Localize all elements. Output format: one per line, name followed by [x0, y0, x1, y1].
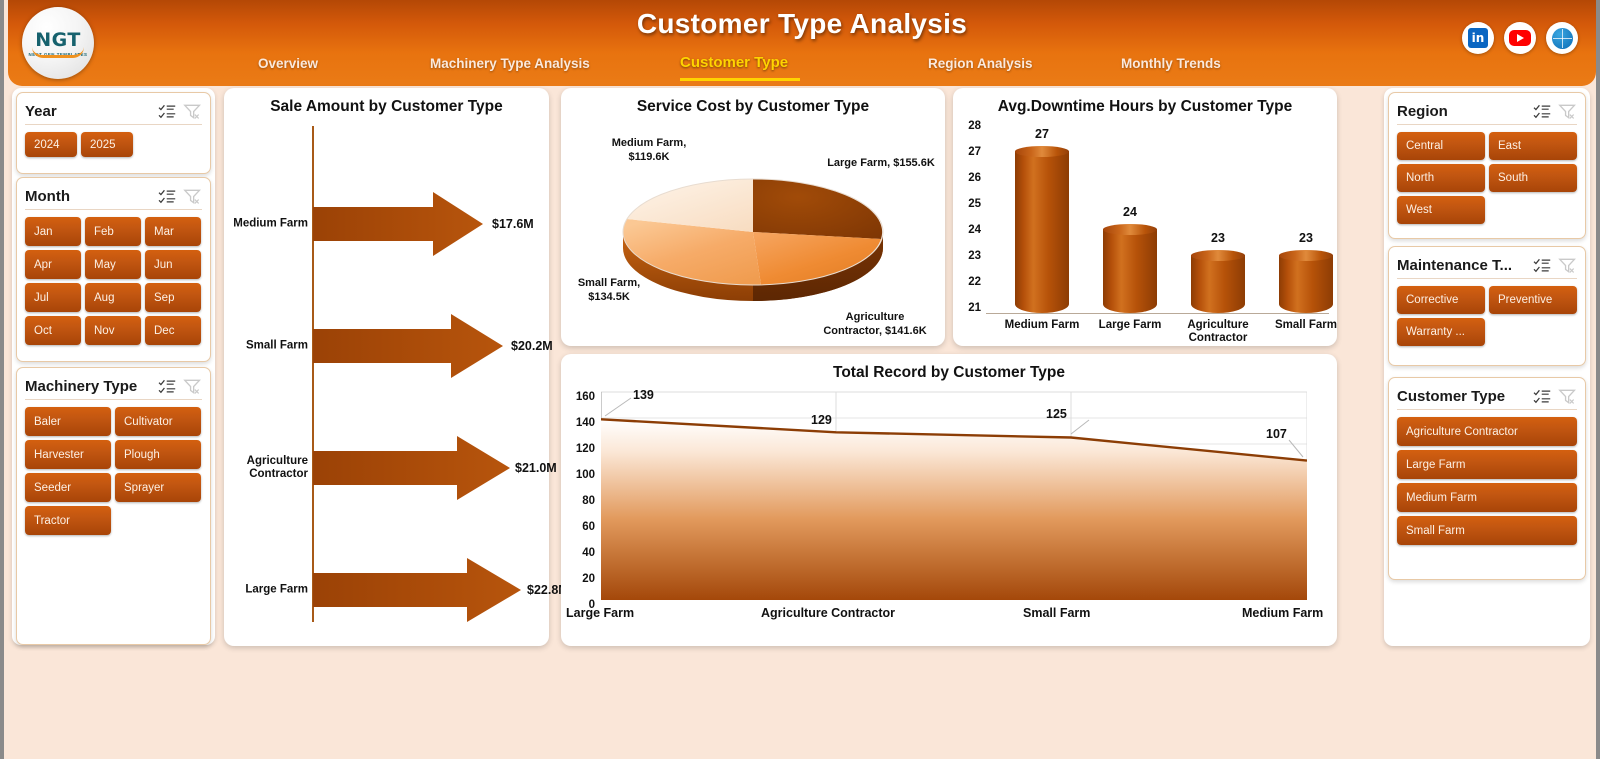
slicer-item-oct[interactable]: Oct — [25, 316, 81, 345]
slicer-maintenance-items: Corrective Preventive Warranty ... — [1397, 286, 1577, 346]
funnel-plot: Medium Farm $17.6M Small Farm $20 — [224, 124, 549, 644]
slicer-customer-title: Customer Type — [1397, 388, 1527, 405]
y-axis-tick: 25 — [957, 198, 981, 210]
multi-select-icon[interactable] — [158, 103, 177, 120]
y-axis-tick: 20 — [567, 573, 595, 585]
pie-label-medium-farm: Medium Farm, $119.6K — [603, 136, 695, 164]
nav-item-monthly-trends[interactable]: Monthly Trends — [1121, 56, 1221, 71]
column-top-ellipse — [1279, 250, 1333, 261]
slicer-month-title: Month — [25, 188, 152, 205]
pie-label-agriculture-contractor: Agriculture Contractor, $141.6K — [815, 310, 935, 338]
area-series-shape — [601, 386, 1307, 618]
data-label: 129 — [811, 413, 832, 427]
slicer-machinery-type: Machinery Type Baler Cultivator Harveste… — [16, 367, 211, 645]
website-button[interactable] — [1546, 22, 1578, 54]
slicer-item-corrective[interactable]: Corrective — [1397, 286, 1485, 314]
y-axis-tick: 140 — [567, 417, 595, 429]
clear-filter-icon[interactable] — [183, 103, 202, 120]
slicer-month: Month Jan Feb Mar Apr May Jun Jul Aug Se… — [16, 177, 211, 362]
nav-item-customer-type[interactable]: Customer Type — [680, 54, 788, 71]
y-axis-tick: 40 — [567, 547, 595, 559]
slicer-item-sep[interactable]: Sep — [145, 283, 201, 312]
funnel-category-label: Small Farm — [228, 340, 308, 353]
y-axis-tick: 24 — [957, 224, 981, 236]
active-tab-underline — [680, 78, 800, 81]
slicer-item-2025[interactable]: 2025 — [81, 132, 133, 157]
funnel-row[interactable]: Large Farm $22.8M — [224, 558, 549, 622]
slicer-item-baler[interactable]: Baler — [25, 407, 111, 436]
chart-avg-downtime-hours-by-customer-type[interactable]: Avg.Downtime Hours by Customer Type 28 2… — [953, 88, 1337, 346]
slicer-year-header: Year — [25, 99, 202, 125]
chart-title: Avg.Downtime Hours by Customer Type — [953, 98, 1337, 116]
funnel-row[interactable]: Small Farm $20.2M — [224, 314, 549, 378]
x-axis-line — [986, 313, 1329, 314]
slicer-maintenance-type: Maintenance T... Corrective Preventive W… — [1388, 246, 1586, 366]
slicer-region-title: Region — [1397, 103, 1527, 120]
youtube-button[interactable] — [1504, 22, 1536, 54]
pie-plot: Medium Farm, $119.6K Large Farm, $155.6K… — [561, 118, 945, 346]
slicer-item-small-farm[interactable]: Small Farm — [1397, 516, 1577, 545]
slicer-item-warranty[interactable]: Warranty ... — [1397, 318, 1485, 346]
dashboard-root: NGT NEXT GEN TEMPLATES Customer Type Ana… — [0, 0, 1600, 759]
slicer-item-harvester[interactable]: Harvester — [25, 440, 111, 469]
funnel-category-label: Medium Farm — [228, 218, 308, 231]
chart-service-cost-by-customer-type[interactable]: Service Cost by Customer Type — [561, 88, 945, 346]
chart-sale-amount-by-customer-type[interactable]: Sale Amount by Customer Type Medium Farm… — [224, 88, 549, 646]
funnel-category-label: Agriculture Contractor — [228, 455, 308, 481]
multi-select-icon[interactable] — [158, 378, 177, 395]
slicer-machinery-header: Machinery Type — [25, 374, 202, 400]
area-plot: 160 140 120 100 80 60 40 20 0 — [561, 386, 1337, 644]
column-value-label: 23 — [1191, 231, 1245, 245]
pie-label-small-farm: Small Farm, $134.5K — [561, 276, 657, 304]
chart-title: Sale Amount by Customer Type — [224, 98, 549, 116]
column-top-ellipse — [1191, 250, 1245, 261]
chart-title: Total Record by Customer Type — [561, 364, 1337, 382]
funnel-arrow-shape — [313, 558, 521, 622]
slicer-customer-type: Customer Type Agriculture Contractor Lar… — [1388, 377, 1586, 580]
slicer-region-header: Region — [1397, 99, 1577, 125]
x-axis-category-label: Large Farm — [566, 606, 634, 620]
multi-select-icon[interactable] — [158, 188, 177, 205]
multi-select-icon[interactable] — [1533, 103, 1552, 120]
slicer-item-preventive[interactable]: Preventive — [1489, 286, 1577, 314]
slicer-maintenance-header: Maintenance T... — [1397, 253, 1577, 279]
slicer-item-jul[interactable]: Jul — [25, 283, 81, 312]
slicer-item-feb[interactable]: Feb — [85, 217, 141, 246]
y-axis-tick: 27 — [957, 146, 981, 158]
slicer-region: Region Central East North South West — [1388, 92, 1586, 239]
data-label: 139 — [633, 388, 654, 402]
slicer-item-west[interactable]: West — [1397, 196, 1485, 224]
slicer-month-header: Month — [25, 184, 202, 210]
slicer-item-plough[interactable]: Plough — [115, 440, 201, 469]
y-axis-tick: 100 — [567, 469, 595, 481]
y-axis-tick: 23 — [957, 250, 981, 262]
pie-label-large-farm: Large Farm, $155.6K — [826, 156, 936, 170]
column-body — [1191, 255, 1245, 313]
y-axis-tick: 28 — [957, 120, 981, 132]
column-top-ellipse — [1015, 146, 1069, 157]
funnel-value-label: $21.0M — [515, 461, 557, 475]
x-axis-category-label: Medium Farm — [1001, 319, 1083, 332]
nav-item-region-analysis[interactable]: Region Analysis — [928, 56, 1033, 71]
y-axis-tick: 22 — [957, 276, 981, 288]
clear-filter-icon[interactable] — [183, 188, 202, 205]
column-value-label: 27 — [1015, 127, 1069, 141]
slicer-year-items: 2024 2025 — [25, 132, 202, 157]
linkedin-button[interactable]: in — [1462, 22, 1494, 54]
page-header: NGT NEXT GEN TEMPLATES Customer Type Ana… — [8, 0, 1596, 86]
funnel-row[interactable]: Agriculture Contractor $21.0M — [224, 436, 549, 500]
y-axis-tick: 120 — [567, 443, 595, 455]
slicer-item-cultivator[interactable]: Cultivator — [115, 407, 201, 436]
multi-select-icon[interactable] — [1533, 388, 1552, 405]
chart-total-record-by-customer-type[interactable]: Total Record by Customer Type 160 140 12… — [561, 354, 1337, 646]
slicer-item-aug[interactable]: Aug — [85, 283, 141, 312]
column-body — [1279, 255, 1333, 313]
column-bar[interactable] — [1015, 146, 1069, 313]
slicer-item-may[interactable]: May — [85, 250, 141, 279]
column-bar[interactable] — [1191, 250, 1245, 313]
funnel-arrow-shape — [313, 192, 483, 256]
slicer-item-seeder[interactable]: Seeder — [25, 473, 111, 502]
column-top-ellipse — [1103, 224, 1157, 235]
slicer-customer-header: Customer Type — [1397, 384, 1577, 410]
logo-swoosh-icon — [32, 47, 84, 58]
nav-item-overview[interactable]: Overview — [258, 56, 318, 71]
slicer-item-jun[interactable]: Jun — [145, 250, 201, 279]
slicer-customer-items: Agriculture Contractor Large Farm Medium… — [1397, 417, 1577, 545]
column-value-label: 23 — [1279, 231, 1333, 245]
x-axis-category-label: Agriculture Contractor — [1179, 319, 1257, 345]
y-axis-tick: 26 — [957, 172, 981, 184]
x-axis-category-label: Small Farm — [1265, 319, 1347, 332]
column-bar[interactable] — [1103, 224, 1157, 313]
funnel-row[interactable]: Medium Farm $17.6M — [224, 192, 549, 256]
y-axis-tick: 160 — [567, 391, 595, 403]
slicer-machinery-items: Baler Cultivator Harvester Plough Seeder… — [25, 407, 202, 535]
y-axis-tick: 80 — [567, 495, 595, 507]
y-axis-tick: 60 — [567, 521, 595, 533]
column-value-label: 24 — [1103, 205, 1157, 219]
column-bar[interactable] — [1279, 250, 1333, 313]
slicer-item-apr[interactable]: Apr — [25, 250, 81, 279]
x-axis-category-label: Large Farm — [1089, 319, 1171, 332]
slicer-item-central[interactable]: Central — [1397, 132, 1485, 160]
x-axis-category-label: Small Farm — [1023, 606, 1090, 620]
globe-icon — [1552, 28, 1573, 49]
funnel-value-label: $17.6M — [492, 217, 534, 231]
slicer-item-agriculture-contractor[interactable]: Agriculture Contractor — [1397, 417, 1577, 446]
main-nav: Overview Machinery Type Analysis Custome… — [258, 56, 1368, 82]
column-body — [1015, 151, 1069, 313]
slicer-item-large-farm[interactable]: Large Farm — [1397, 450, 1577, 479]
slicer-item-tractor[interactable]: Tractor — [25, 506, 111, 535]
nav-item-machinery-type[interactable]: Machinery Type Analysis — [430, 56, 590, 71]
chart-title: Service Cost by Customer Type — [561, 98, 945, 116]
funnel-category-label: Large Farm — [228, 584, 308, 597]
slicer-region-items: Central East North South West — [1397, 132, 1577, 224]
report-canvas: NGT NEXT GEN TEMPLATES Customer Type Ana… — [8, 0, 1596, 745]
data-label: 107 — [1266, 427, 1287, 441]
slicer-item-mar[interactable]: Mar — [145, 217, 201, 246]
slicer-month-items: Jan Feb Mar Apr May Jun Jul Aug Sep Oct … — [25, 217, 202, 345]
clear-filter-icon[interactable] — [1558, 103, 1577, 120]
x-axis-category-label: Medium Farm — [1242, 606, 1323, 620]
clear-filter-icon[interactable] — [1558, 257, 1577, 274]
data-label: 125 — [1046, 407, 1067, 421]
slicer-year: Year 2024 2025 — [16, 92, 211, 174]
slicer-item-jan[interactable]: Jan — [25, 217, 81, 246]
slicer-item-east[interactable]: East — [1489, 132, 1577, 160]
slicer-year-title: Year — [25, 103, 152, 120]
clear-filter-icon[interactable] — [183, 378, 202, 395]
funnel-arrow-shape — [313, 314, 503, 378]
linkedin-icon: in — [1468, 28, 1488, 48]
slicer-item-sprayer[interactable]: Sprayer — [115, 473, 201, 502]
slicer-maintenance-title: Maintenance T... — [1397, 257, 1527, 274]
slicer-item-dec[interactable]: Dec — [145, 316, 201, 345]
y-axis-tick: 21 — [957, 302, 981, 314]
funnel-value-label: $20.2M — [511, 339, 553, 353]
social-links: in — [1462, 22, 1578, 54]
page-title: Customer Type Analysis — [8, 8, 1596, 40]
clear-filter-icon[interactable] — [1558, 388, 1577, 405]
x-axis-category-label: Agriculture Contractor — [761, 606, 895, 620]
slicer-item-north[interactable]: North — [1397, 164, 1485, 192]
column-body — [1103, 229, 1157, 313]
slicer-item-south[interactable]: South — [1489, 164, 1577, 192]
column-plot: 28 27 26 25 24 23 22 21 27 24 — [953, 116, 1337, 346]
multi-select-icon[interactable] — [1533, 257, 1552, 274]
slicer-item-medium-farm[interactable]: Medium Farm — [1397, 483, 1577, 512]
funnel-arrow-shape — [313, 436, 510, 500]
slicer-item-2024[interactable]: 2024 — [25, 132, 77, 157]
slicer-machinery-title: Machinery Type — [25, 378, 152, 395]
youtube-icon — [1509, 30, 1531, 46]
slicer-item-nov[interactable]: Nov — [85, 316, 141, 345]
